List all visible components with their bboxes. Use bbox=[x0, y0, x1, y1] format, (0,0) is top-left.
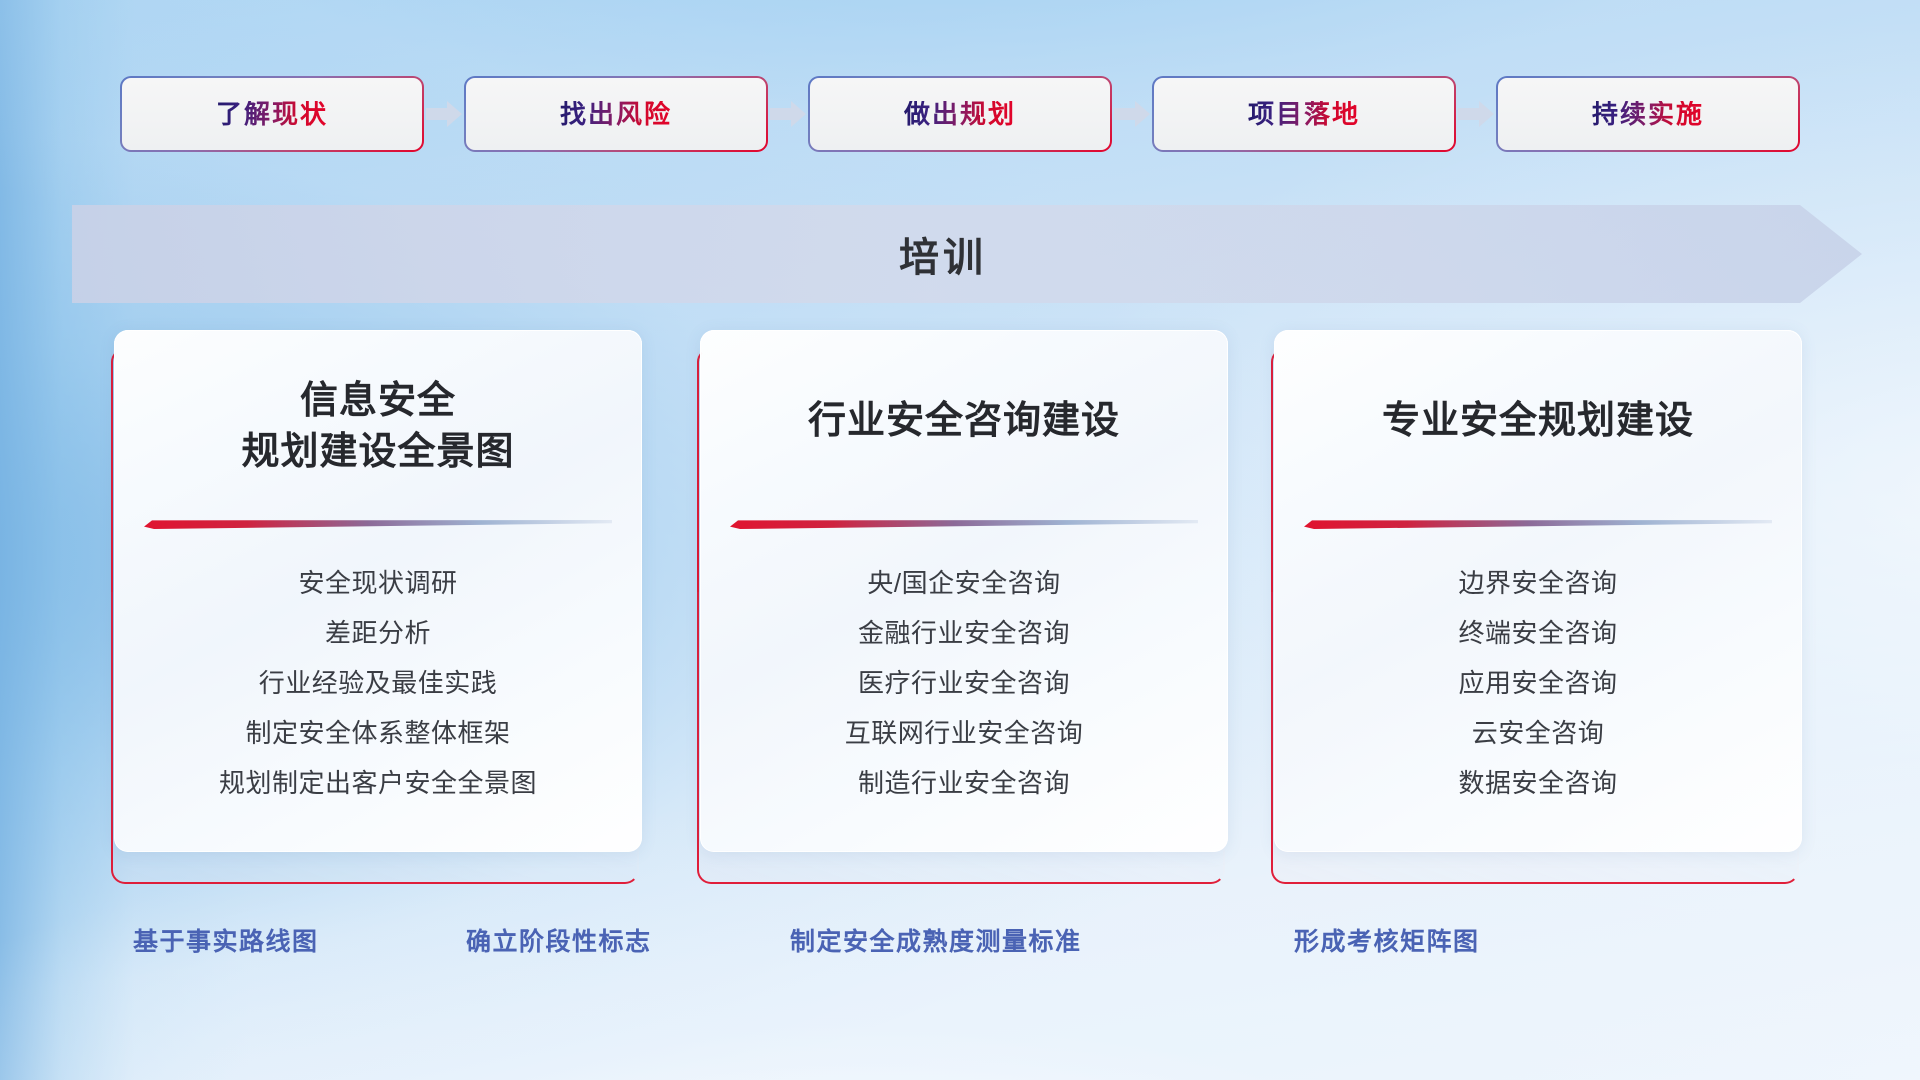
step-arrow-icon-4 bbox=[1454, 78, 1498, 150]
caption-2: 确立阶段性标志 bbox=[466, 910, 652, 970]
card-3-list-item: 终端安全咨询 bbox=[1458, 608, 1617, 658]
card-2-divider bbox=[730, 520, 1198, 529]
training-banner: 培训 bbox=[72, 205, 1862, 303]
caption-1: 基于事实路线图 bbox=[133, 910, 319, 970]
card-3-list-item: 边界安全咨询 bbox=[1458, 558, 1617, 608]
card-3-list-item: 云安全咨询 bbox=[1472, 708, 1605, 758]
card-2-title: 行业安全咨询建设 bbox=[700, 396, 1228, 447]
card-3-list: 边界安全咨询 终端安全咨询 应用安全咨询 云安全咨询 数据安全咨询 bbox=[1274, 558, 1802, 808]
card-2-list: 央/国企安全咨询 金融行业安全咨询 医疗行业安全咨询 互联网行业安全咨询 制造行… bbox=[700, 558, 1228, 808]
card-3-title: 专业安全规划建设 bbox=[1274, 396, 1802, 447]
card-1-list-item: 规划制定出客户安全全景图 bbox=[219, 758, 537, 808]
card-2-list-item: 央/国企安全咨询 bbox=[867, 558, 1060, 608]
card-2-body: 行业安全咨询建设 央/国企安全咨询 bbox=[700, 330, 1228, 852]
card-1[interactable]: 信息安全 规划建设全景图 安全现状调研 bbox=[114, 330, 642, 870]
banner-title: 培训 bbox=[72, 205, 1862, 303]
card-3-list-item: 数据安全咨询 bbox=[1458, 758, 1617, 808]
card-2-list-item: 互联网行业安全咨询 bbox=[845, 708, 1084, 758]
card-1-list-item: 制定安全体系整体框架 bbox=[245, 708, 510, 758]
process-step-row: 了解现状 找出风险 做出规划 项目落地 持续实施 bbox=[0, 78, 1920, 150]
step-chip-4-label: 项目落地 bbox=[1248, 101, 1360, 127]
step-chip-5-label: 持续实施 bbox=[1592, 101, 1704, 127]
step-chip-2[interactable]: 找出风险 bbox=[466, 78, 766, 150]
card-3-list-item: 应用安全咨询 bbox=[1458, 658, 1617, 708]
caption-3: 制定安全成熟度测量标准 bbox=[790, 910, 1082, 970]
card-3[interactable]: 专业安全规划建设 边界安全咨询 bbox=[1274, 330, 1802, 870]
card-3-body: 专业安全规划建设 边界安全咨询 bbox=[1274, 330, 1802, 852]
caption-4: 形成考核矩阵图 bbox=[1294, 910, 1480, 970]
card-2-list-item: 医疗行业安全咨询 bbox=[858, 658, 1070, 708]
card-2-list-item: 制造行业安全咨询 bbox=[858, 758, 1070, 808]
step-arrow-icon-3 bbox=[1110, 78, 1154, 150]
card-1-divider bbox=[144, 520, 612, 529]
step-chip-3[interactable]: 做出规划 bbox=[810, 78, 1110, 150]
step-chip-1[interactable]: 了解现状 bbox=[122, 78, 422, 150]
step-chip-3-label: 做出规划 bbox=[904, 101, 1016, 127]
card-1-title: 信息安全 规划建设全景图 bbox=[114, 376, 642, 478]
card-1-list: 安全现状调研 差距分析 行业经验及最佳实践 制定安全体系整体框架 规划制定出客户… bbox=[114, 558, 642, 808]
card-row: 信息安全 规划建设全景图 安全现状调研 bbox=[0, 330, 1920, 870]
card-1-list-item: 行业经验及最佳实践 bbox=[259, 658, 498, 708]
card-2[interactable]: 行业安全咨询建设 央/国企安全咨询 bbox=[700, 330, 1228, 870]
caption-row: 基于事实路线图 确立阶段性标志 制定安全成熟度测量标准 形成考核矩阵图 bbox=[0, 910, 1920, 970]
card-1-list-item: 安全现状调研 bbox=[298, 558, 457, 608]
step-chip-2-label: 找出风险 bbox=[560, 101, 672, 127]
card-3-divider bbox=[1304, 520, 1772, 529]
card-1-list-item: 差距分析 bbox=[325, 608, 431, 658]
card-2-list-item: 金融行业安全咨询 bbox=[858, 608, 1070, 658]
card-1-body: 信息安全 规划建设全景图 安全现状调研 bbox=[114, 330, 642, 852]
step-arrow-icon-2 bbox=[766, 78, 810, 150]
step-chip-1-label: 了解现状 bbox=[216, 101, 328, 127]
step-arrow-icon-1 bbox=[422, 78, 466, 150]
step-chip-4[interactable]: 项目落地 bbox=[1154, 78, 1454, 150]
step-chip-5[interactable]: 持续实施 bbox=[1498, 78, 1798, 150]
